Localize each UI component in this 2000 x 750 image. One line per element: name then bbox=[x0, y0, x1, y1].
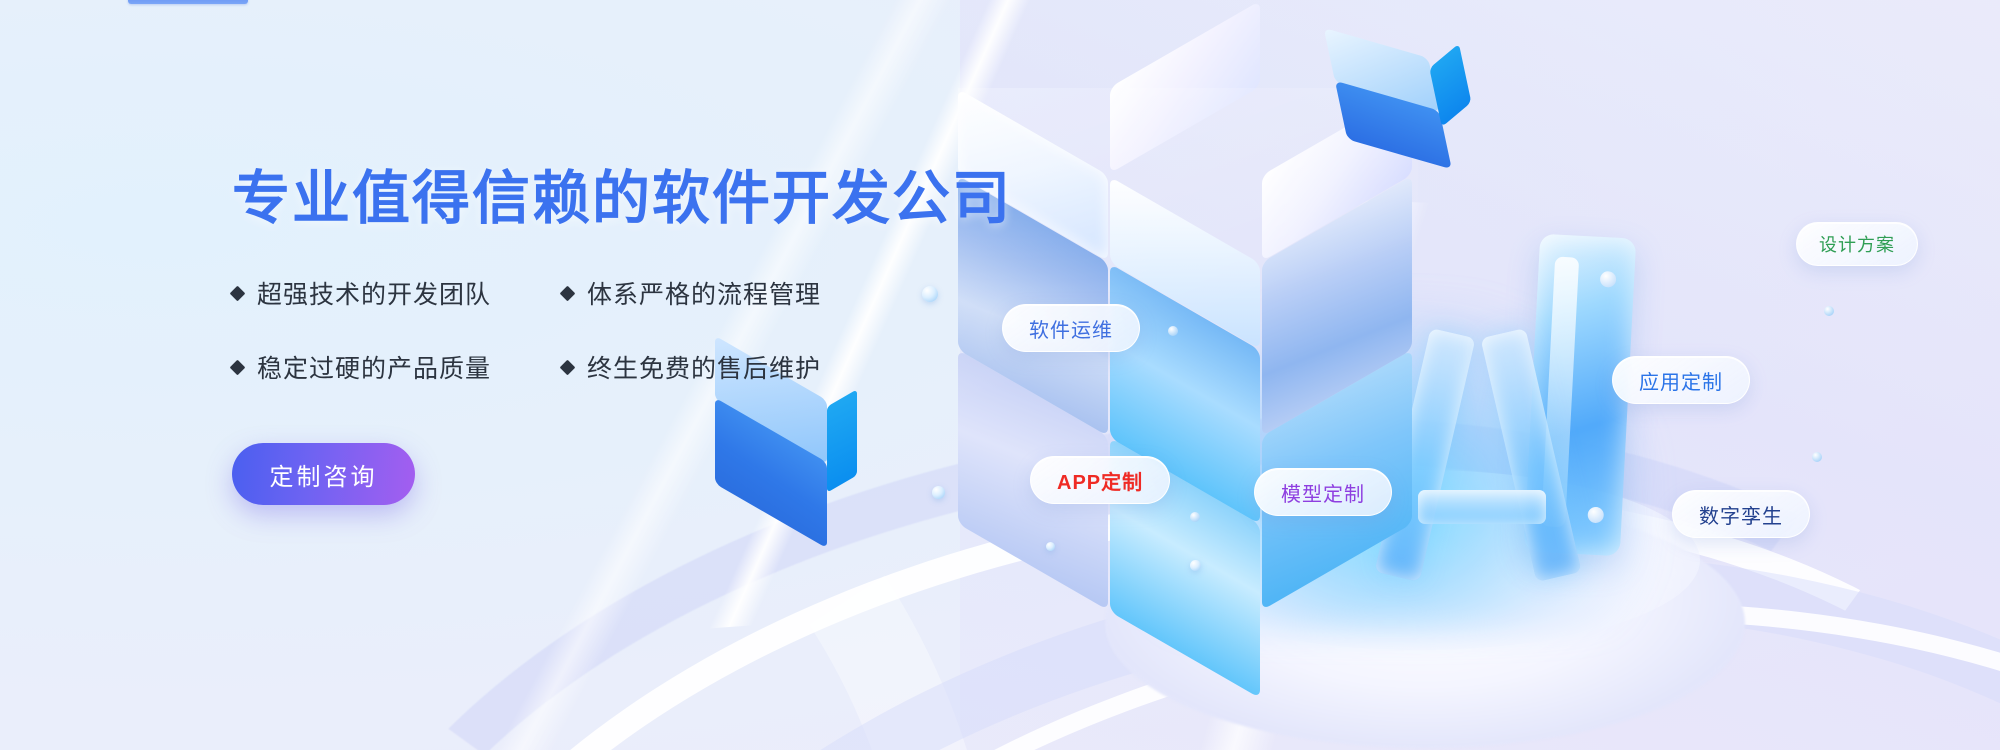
letter-a-crossbar bbox=[1418, 490, 1546, 524]
service-tag-software-ops[interactable]: 软件运维 bbox=[1002, 304, 1140, 352]
feature-label: 超强技术的开发团队 bbox=[257, 275, 491, 311]
pill-connector-dot bbox=[1812, 452, 1822, 462]
diamond-bullet-icon bbox=[230, 360, 246, 376]
service-tag-digital-twin[interactable]: 数字孪生 bbox=[1672, 490, 1810, 538]
letter-a-right-stroke bbox=[1480, 328, 1581, 582]
pill-connector-dot bbox=[1824, 306, 1834, 316]
cube-face-top-b bbox=[1110, 1, 1260, 174]
hero-copy: 专业值得信赖的软件开发公司 超强技术的开发团队 体系严格的流程管理 稳定过硬的产… bbox=[232, 168, 992, 505]
service-tag-design-plan[interactable]: 设计方案 bbox=[1796, 222, 1918, 266]
bubble-decoration bbox=[1190, 560, 1201, 571]
page-title: 专业值得信赖的软件开发公司 bbox=[232, 168, 992, 229]
service-tag-app-custom[interactable]: 应用定制 bbox=[1612, 356, 1750, 404]
custom-consultation-button[interactable]: 定制咨询 bbox=[232, 443, 415, 505]
feature-label: 稳定过硬的产品质量 bbox=[257, 349, 491, 385]
pill-connector-dot bbox=[1168, 326, 1178, 336]
feature-label: 终生免费的售后维护 bbox=[587, 349, 821, 385]
feature-item: 超强技术的开发团队 bbox=[232, 275, 562, 311]
pill-connector-dot bbox=[1190, 512, 1200, 522]
top-bar-fragment bbox=[128, 0, 248, 4]
glass-rubik-cube bbox=[958, 88, 1418, 518]
slab-dot bbox=[1600, 271, 1617, 288]
feature-item: 稳定过硬的产品质量 bbox=[232, 349, 562, 385]
bubble-decoration bbox=[1046, 542, 1055, 551]
service-tag-model-custom[interactable]: 模型定制 bbox=[1254, 468, 1392, 516]
feature-item: 体系严格的流程管理 bbox=[562, 275, 992, 311]
hero-banner: 专业值得信赖的软件开发公司 超强技术的开发团队 体系严格的流程管理 稳定过硬的产… bbox=[0, 0, 2000, 750]
feature-label: 体系严格的流程管理 bbox=[587, 275, 821, 311]
feature-list: 超强技术的开发团队 体系严格的流程管理 稳定过硬的产品质量 终生免费的售后维护 bbox=[232, 275, 992, 385]
feature-item: 终生免费的售后维护 bbox=[562, 349, 992, 385]
floating-cube-top-right bbox=[1329, 26, 1481, 170]
diamond-bullet-icon bbox=[560, 360, 576, 376]
service-tag-app-customization[interactable]: APP定制 bbox=[1030, 456, 1170, 504]
hero-artwork bbox=[860, 0, 2000, 750]
diamond-bullet-icon bbox=[230, 286, 246, 302]
diamond-bullet-icon bbox=[560, 286, 576, 302]
